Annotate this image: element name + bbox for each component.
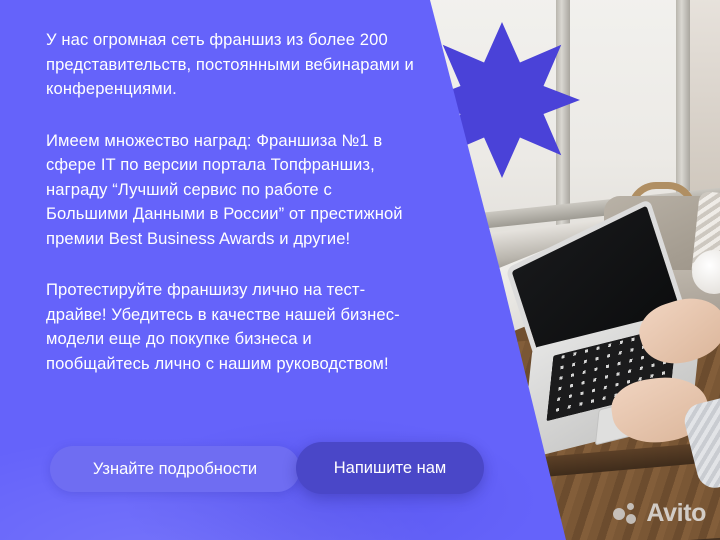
paragraph-2: Имеем множество наград: Франшиза №1 в сф… (46, 129, 418, 252)
banner-root: У нас огромная сеть франшиз из более 200… (0, 0, 720, 540)
avito-watermark: Avito (613, 499, 706, 528)
copy-block: У нас огромная сеть франшиз из более 200… (46, 28, 418, 376)
wall-edge (690, 0, 720, 200)
paragraph-1: У нас огромная сеть франшиз из более 200… (46, 28, 418, 102)
avito-dots-icon (613, 503, 639, 525)
contact-us-button[interactable]: Напишите нам (296, 442, 484, 494)
avito-brand-label: Avito (646, 499, 706, 528)
paragraph-3: Протестируйте франшизу лично на тест-дра… (46, 278, 418, 376)
learn-more-button[interactable]: Узнайте подробности (50, 446, 300, 492)
